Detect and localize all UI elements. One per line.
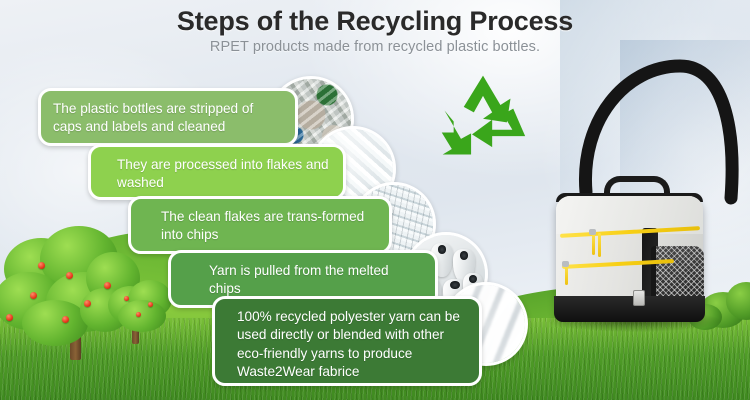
zipper-pull [565,265,568,285]
zipper-pull [598,233,601,257]
page-subtitle: RPET products made from recycled plastic… [0,39,750,55]
header: Steps of the Recycling Process RPET prod… [0,6,750,55]
bag-brand-tag [633,290,645,306]
step-callout-5: 100% recycled polyester yarn can be used… [212,296,482,386]
recycling-process-infographic: Steps of the Recycling Process RPET prod… [0,0,750,400]
recycle-symbol-icon [437,72,529,160]
step-callout-1: The plastic bottles are stripped of caps… [38,88,298,146]
zipper-tab [562,261,569,267]
step-callout-2: They are processed into flakes and washe… [88,144,346,200]
step-callout-text: 100% recycled polyester yarn can be used… [237,309,460,379]
step-callout-text: The clean flakes are trans-formed into c… [161,209,364,242]
step-callout-text: The plastic bottles are stripped of caps… [53,101,253,134]
zipper-tab [589,229,596,235]
step-callout-text: Yarn is pulled from the melted chips [209,263,389,296]
zipper-pull [592,233,595,255]
step-callout-3: The clean flakes are trans-formed into c… [128,196,392,254]
bag-base [554,296,705,322]
step-callout-text: They are processed into flakes and washe… [117,157,329,190]
page-title: Steps of the Recycling Process [0,6,750,36]
